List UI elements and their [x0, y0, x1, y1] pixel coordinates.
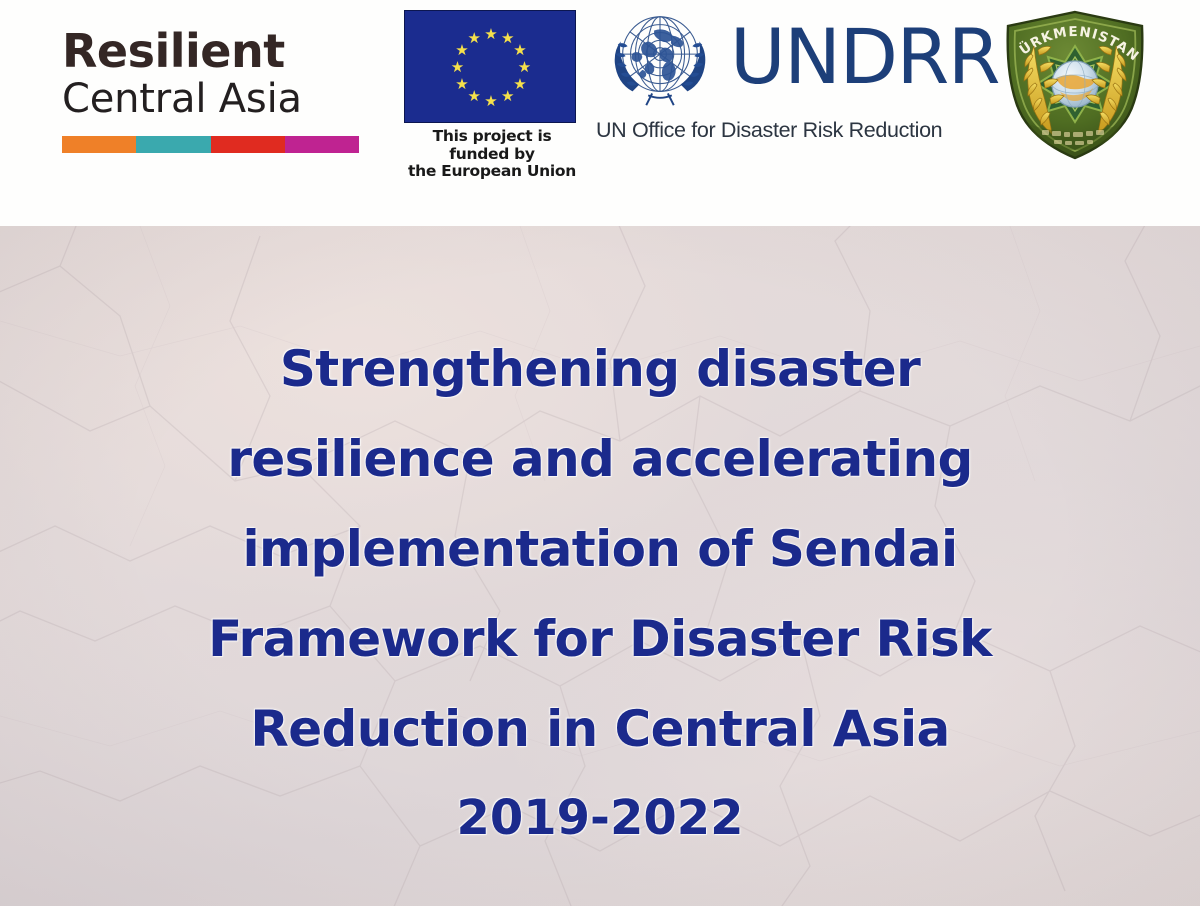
eu-flag-icon: ★★★★★★★★★★★★ [404, 10, 576, 123]
title-years: 2019-2022 [0, 794, 1200, 842]
eu-caption-line2: the European Union [404, 163, 580, 181]
eu-star-icon: ★ [484, 94, 499, 109]
european-union-funding-block: ★★★★★★★★★★★★ This project is funded by t… [404, 10, 580, 181]
eu-caption-line1: This project is funded by [404, 128, 580, 163]
rca-logo-line2: Central Asia [62, 77, 360, 122]
title-line-2: resilience and accelerating [0, 434, 1200, 484]
logo-header-band: Resilient Central Asia ★★★★★★★★★★★★ This… [0, 0, 1200, 226]
eu-star-icon: ★ [467, 31, 482, 46]
eu-star-icon: ★ [513, 43, 528, 58]
title-line-5: Reduction in Central Asia [0, 704, 1200, 754]
title-line-3: implementation of Sendai [0, 524, 1200, 574]
title-slide: Resilient Central Asia ★★★★★★★★★★★★ This… [0, 0, 1200, 906]
undrr-logo-row: UNDRR [596, 4, 980, 116]
slide-title: Strengthening disaster resilience and ac… [0, 344, 1200, 842]
rca-bar-segment-orange [62, 136, 136, 153]
rca-bar-segment-magenta [285, 136, 359, 153]
title-line-4: Framework for Disaster Risk [0, 614, 1200, 664]
title-line-1: Strengthening disaster [0, 344, 1200, 394]
un-emblem-icon [596, 5, 724, 115]
rca-color-bar [62, 136, 359, 153]
resilient-central-asia-logo: Resilient Central Asia [62, 28, 360, 153]
undrr-logo-block: UNDRR UN Office for Disaster Risk Reduct… [596, 4, 980, 143]
eu-star-icon: ★ [500, 89, 515, 104]
eu-star-icon: ★ [454, 77, 469, 92]
eu-star-icon: ★ [517, 60, 532, 75]
rca-logo-line1: Resilient [62, 28, 360, 75]
undrr-wordmark: UNDRR [730, 19, 999, 95]
turkmenistan-emblem-icon: TÜRKMENISTAN [998, 6, 1152, 166]
turkmenistan-emblem-block: TÜRKMENISTAN [998, 6, 1152, 166]
eu-star-icon: ★ [484, 27, 499, 42]
eu-star-icon: ★ [450, 60, 465, 75]
rca-bar-segment-red [211, 136, 285, 153]
eu-funding-caption: This project is funded by the European U… [404, 128, 580, 181]
title-content-area: Strengthening disaster resilience and ac… [0, 226, 1200, 906]
undrr-subtitle: UN Office for Disaster Risk Reduction [596, 118, 980, 143]
rca-bar-segment-teal [136, 136, 210, 153]
